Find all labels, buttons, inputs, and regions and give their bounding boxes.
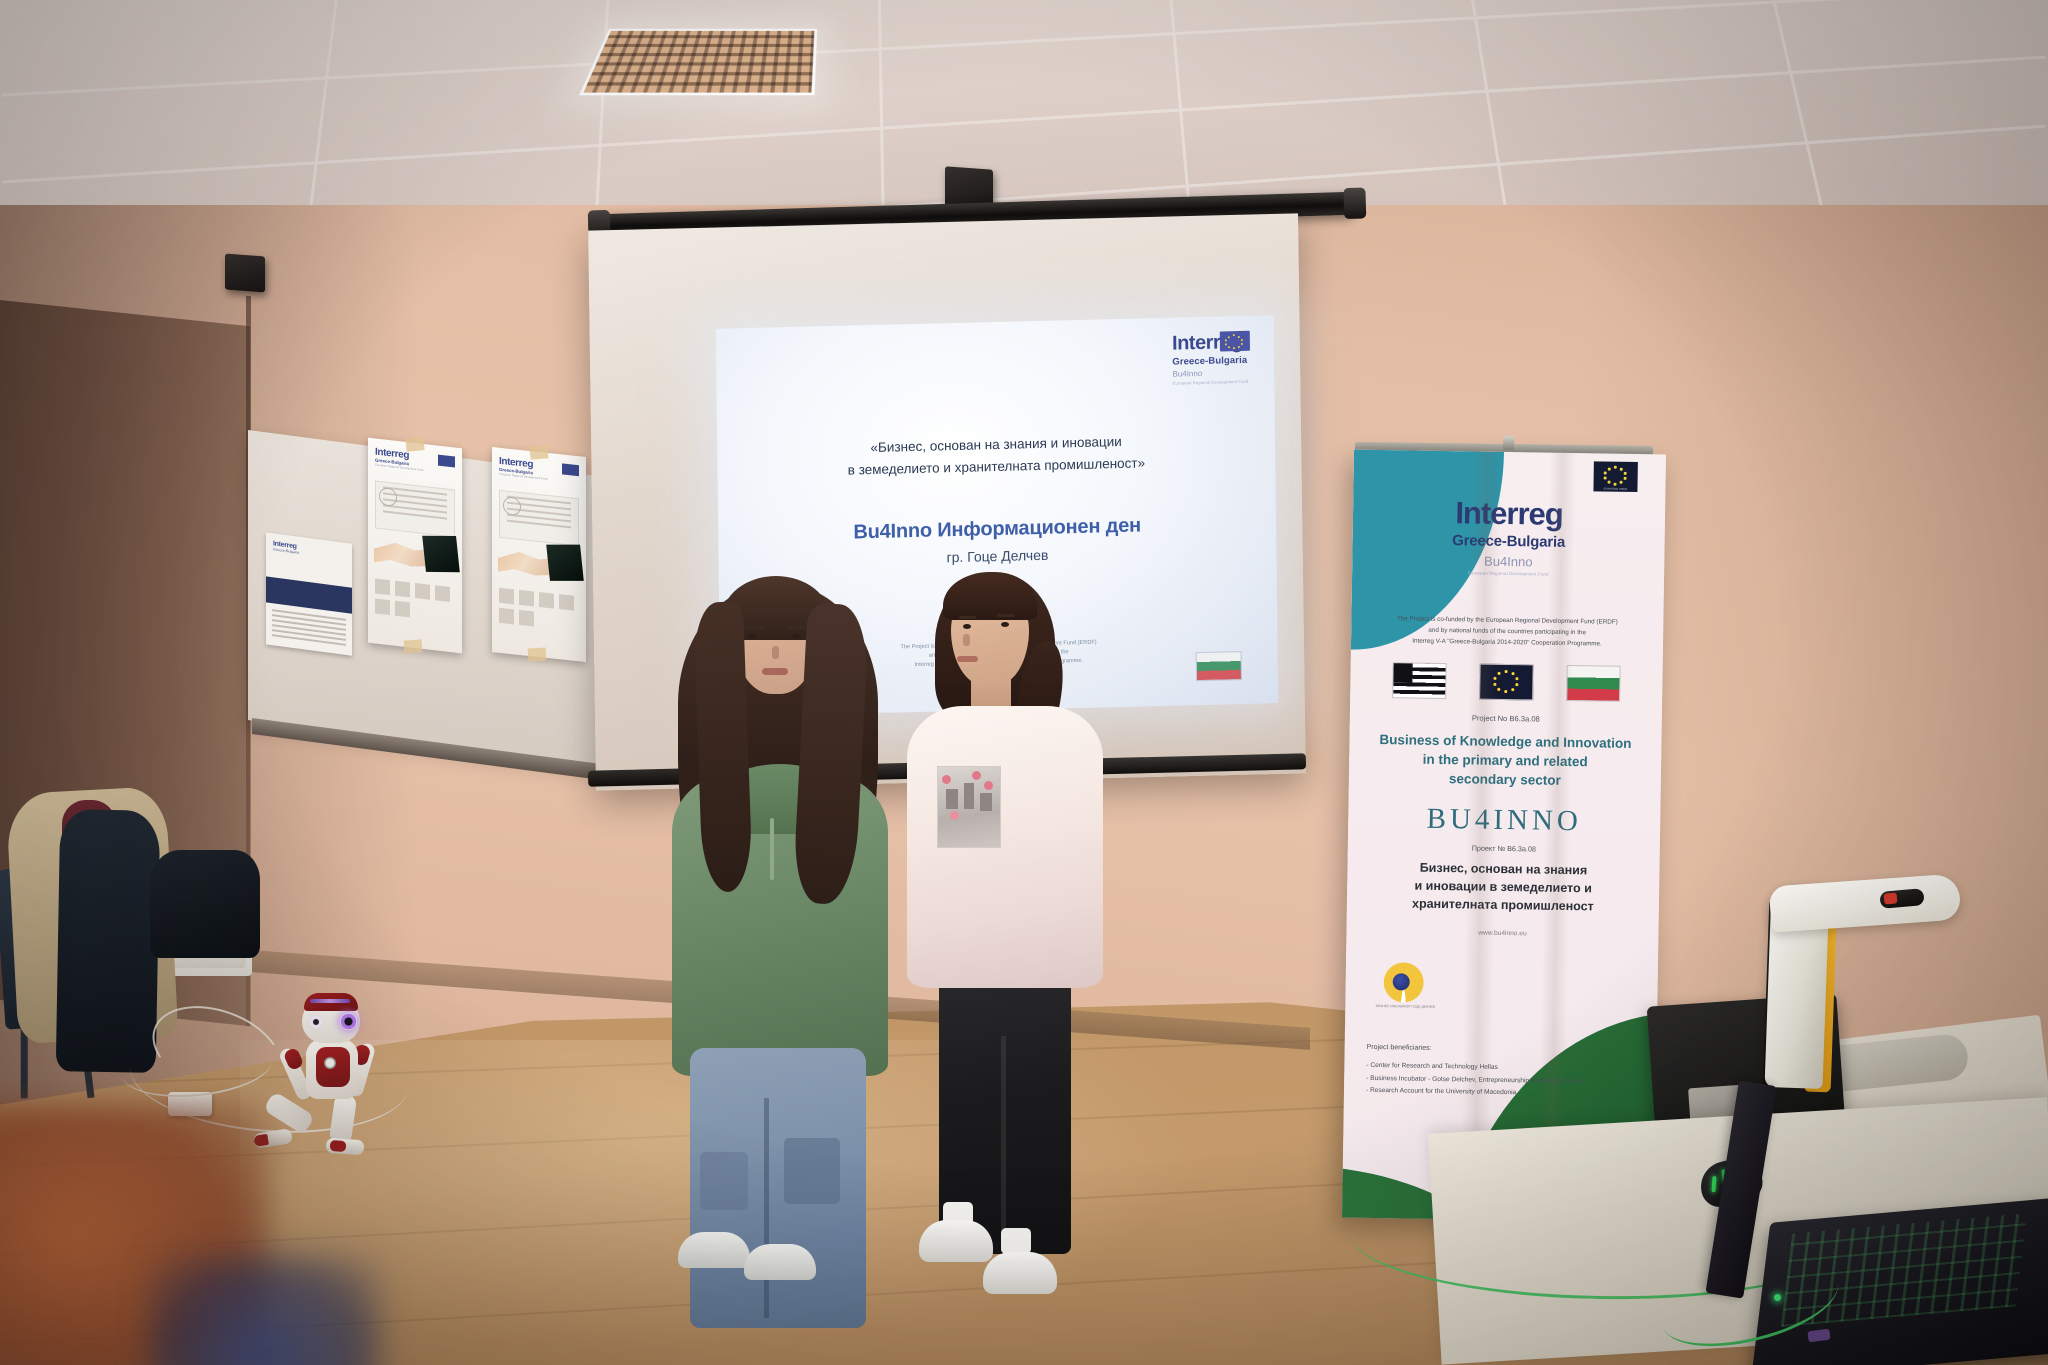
wall-poster: Interreg Greece-Bulgaria European Region…	[492, 447, 586, 662]
hood-drawstring	[770, 818, 774, 880]
sweatshirt-graphic	[937, 766, 1001, 848]
robot-chest-button[interactable]	[324, 1057, 336, 1069]
ceiling-light-icon	[579, 29, 817, 95]
banner-project-number-bg: Проект № B6.3a.08	[1348, 842, 1660, 856]
robot-head-led	[310, 999, 350, 1003]
greece-flag-canton	[1394, 663, 1413, 682]
hair-front	[943, 572, 1037, 620]
eyebrow	[997, 614, 1014, 617]
bulgaria-flag-icon	[1566, 665, 1621, 702]
banner-pole-knob	[1503, 436, 1514, 450]
partner-logo-caption: БИЗНЕС ИНКУБАТОР ГОЦЕ ДЕЛЧЕВ	[1363, 1004, 1447, 1010]
coat	[56, 809, 161, 1073]
eu-flag-icon	[438, 455, 455, 468]
banner-title-en-line3: secondary sector	[1363, 768, 1647, 792]
eye	[1001, 622, 1009, 627]
eyebrow	[744, 626, 763, 629]
robot-eye-icon	[340, 1013, 357, 1030]
banner-url: www.bu4inno.eu	[1346, 928, 1658, 940]
banner-interreg-logo: Interreg Greece-Bulgaria Bu4Inno Europea…	[1352, 496, 1665, 579]
presenter-right	[905, 560, 1105, 1280]
cargo-pocket	[784, 1138, 840, 1204]
whiteboard-doc-lines	[272, 609, 346, 649]
eu-flag-caption: EUROPEAN UNION	[1593, 487, 1637, 491]
partner-logo-icon	[1383, 962, 1424, 1003]
slide-project: Bu4Inno	[1172, 368, 1248, 379]
eye	[963, 624, 971, 629]
banner-project-number-en: Project No B6.3a.08	[1350, 712, 1662, 726]
banner-project-title-en: Business of Knowledge and Innovation in …	[1363, 730, 1648, 792]
wall-speaker-secondary-icon	[225, 254, 265, 293]
nose	[963, 634, 970, 646]
banner-flag-row	[1350, 662, 1663, 703]
slide-interreg-logo: Interreg Greece-Bulgaria Bu4Inno Europea…	[1172, 332, 1248, 385]
banner-funding-text: The Project is co-funded by the European…	[1371, 614, 1643, 651]
poster-dark-shape	[422, 536, 460, 573]
document-camera-power-button[interactable]	[1884, 892, 1898, 904]
slide-programme: Greece-Bulgaria	[1172, 355, 1248, 368]
jeans-seam	[764, 1098, 769, 1318]
roller-cap-right	[1343, 187, 1366, 219]
sock	[1001, 1228, 1031, 1254]
tape-piece	[528, 648, 547, 662]
banner-title-bg-line3: хранителната промишленост	[1363, 894, 1643, 917]
greece-flag-icon	[1392, 662, 1447, 699]
foreground-blur-secondary	[150, 1255, 380, 1365]
mouth	[762, 668, 788, 675]
classroom-scene: Interreg Greece-Bulgaria Interreg Greece…	[0, 0, 2048, 1365]
robot-foot	[326, 1138, 365, 1156]
bulgaria-flag-icon	[1196, 651, 1242, 681]
poster-dark-shape	[546, 545, 584, 581]
whiteboard-doc-band	[266, 576, 352, 613]
eu-flag-icon: EUROPEAN UNION	[1593, 461, 1637, 492]
leggings-seam	[1001, 1036, 1006, 1248]
sneaker	[678, 1232, 750, 1268]
sneaker	[744, 1244, 816, 1280]
tape-piece	[404, 639, 423, 653]
nose	[772, 646, 779, 659]
eyebrow	[788, 626, 807, 629]
banner-acronym: BU4INNO	[1348, 802, 1660, 840]
coat	[150, 850, 260, 958]
sneaker	[983, 1252, 1057, 1294]
poster-icon-row	[499, 588, 579, 631]
whiteboard-document: Interreg Greece-Bulgaria	[266, 532, 352, 655]
rollup-banner: Interreg Greece-Bulgaria Bu4Inno Europea…	[1342, 450, 1666, 1223]
banner-programme: Greece-Bulgaria	[1353, 531, 1665, 553]
tape-piece	[405, 437, 424, 452]
slide-title: «Бизнес, основан на знания и иновации в …	[717, 427, 1275, 484]
eye	[748, 634, 757, 639]
cargo-pocket	[700, 1152, 748, 1210]
slide-fund: European Regional Development Fund	[1173, 378, 1249, 385]
wall-poster: Interreg Greece-Bulgaria European Region…	[368, 438, 462, 654]
eu-flag-icon	[1220, 331, 1250, 352]
robot-eye-icon	[310, 1016, 322, 1028]
eye	[792, 634, 801, 639]
presenter-left	[672, 568, 887, 1258]
sneaker	[919, 1220, 993, 1262]
mouth	[957, 656, 978, 662]
eu-flag-icon	[562, 463, 579, 476]
beneficiaries-title: Project beneficiaries:	[1367, 1044, 1432, 1052]
robot-leg	[329, 1094, 357, 1145]
eyebrow	[959, 616, 976, 619]
banner-project-title-bg: Бизнес, основан на знания и иновации в з…	[1363, 858, 1644, 917]
nao-robot	[258, 995, 408, 1155]
tape-piece	[529, 445, 548, 460]
poster-icon-row	[375, 578, 455, 622]
